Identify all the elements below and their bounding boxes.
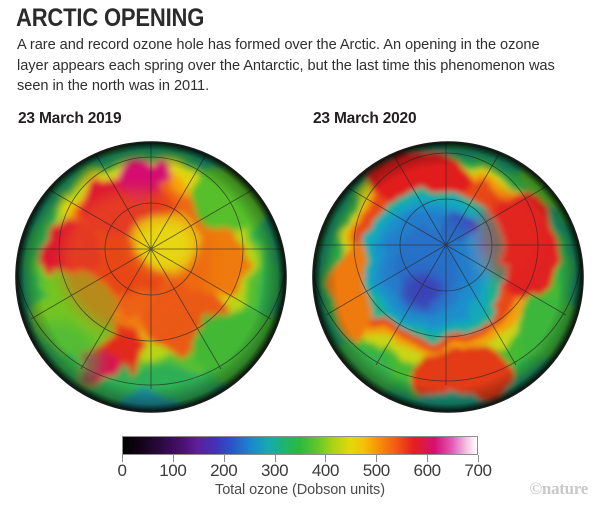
colorbar-tick-label: 600 [414,461,441,481]
colorbar-tick-label: 500 [363,461,390,481]
infographic-root: ARCTIC OPENING A rare and record ozone h… [0,0,600,508]
colorbar-tick-label: 100 [159,461,186,481]
nature-credit-logo: ©nature [530,479,588,499]
colorbar-tick-label: 0 [117,461,126,481]
page-title: ARCTIC OPENING [16,4,204,33]
ozone-map-2020 [312,141,584,413]
ozone-map-2019 [15,141,287,413]
colorbar-tick-label: 200 [210,461,237,481]
colorbar-caption: Total ozone (Dobson units) [122,482,478,498]
globe-svg-2020 [312,141,584,413]
globe-svg-2019 [15,141,287,413]
colorbar-tick-label: 300 [261,461,288,481]
panel-label-2019: 23 March 2019 [18,110,121,128]
limb-shading-2020 [313,142,583,412]
colorbar-tick-label: 400 [312,461,339,481]
standfirst-text: A rare and record ozone hole has formed … [17,35,572,97]
limb-shading-2019 [16,142,286,412]
colorbar-gradient [122,436,478,455]
colorbar-legend: 0100200300400500600700 Total ozone (Dobs… [0,430,600,508]
colorbar-tick-label: 700 [464,461,491,481]
colorbar-tick-labels: 0100200300400500600700 [122,461,478,483]
panel-label-2020: 23 March 2020 [313,110,416,128]
